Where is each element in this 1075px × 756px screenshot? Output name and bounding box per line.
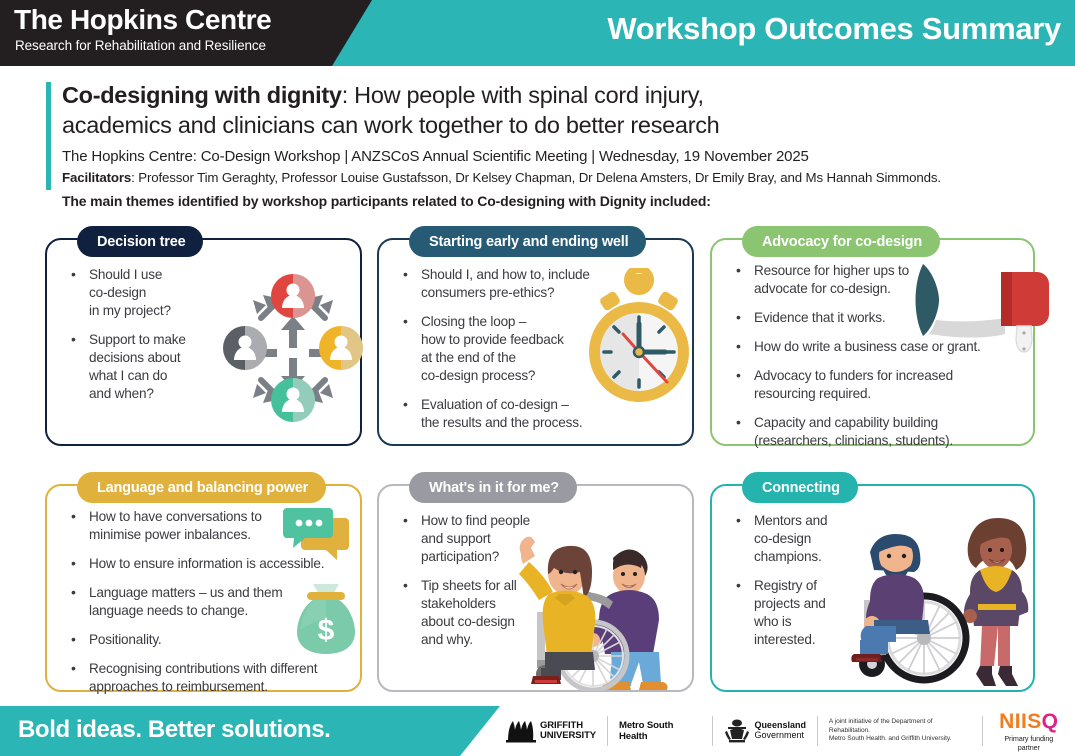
queensland-crest-icon [724, 718, 750, 744]
list-item: Language matters – us and them language … [65, 584, 340, 620]
theme-card-whats-in-it[interactable]: What's in it for me? How to find people … [377, 484, 694, 692]
list-item: Closing the loop – how to provide feedba… [397, 313, 616, 385]
card-bullets-connecting: Mentors and co-design champions. Registr… [730, 512, 858, 649]
title-accent-bar [46, 82, 51, 190]
queensland-government-logo: Queensland Government [713, 714, 817, 748]
niisq-main: NIIS [999, 710, 1041, 733]
card-header-starting-early: Starting early and ending well [409, 226, 646, 257]
joint-line-2: Metro South Health. and Griffith Univers… [829, 735, 971, 744]
page-footer: Bold ideas. Better solutions. GRIFFITH U… [0, 706, 1075, 756]
griffith-crest-icon [506, 719, 536, 743]
list-item: Support to make decisions about what I c… [65, 331, 297, 403]
card-header-language-power: Language and balancing power [77, 472, 326, 503]
wheelchair-man-and-woman-icon [842, 508, 1042, 690]
theme-card-language-power[interactable]: Language and balancing power How to have… [45, 484, 362, 692]
griffith-university-logo: GRIFFITH UNIVERSITY [495, 714, 607, 748]
griffith-line-2: UNIVERSITY [540, 731, 596, 741]
facilitators: Facilitators: Professor Tim Geraghty, Pr… [62, 170, 1052, 185]
card-bullets-decision-tree: Should I use co-design in my project? Su… [65, 266, 297, 403]
joint-initiative-note: A joint initiative of the Department of … [818, 714, 982, 748]
intro-block: Co-designing with dignity: How people wi… [62, 80, 1052, 185]
card-bullets-language-power: How to have conversations to minimise po… [65, 508, 340, 696]
list-item: Capacity and capability building (resear… [730, 414, 1012, 450]
card-bullets-whats-in-it: How to find people and support participa… [397, 512, 547, 649]
list-item: Registry of projects and who is interest… [730, 577, 858, 649]
theme-card-connecting[interactable]: Connecting Mentors and co-design champio… [710, 484, 1035, 692]
theme-card-advocacy[interactable]: Advocacy for co-design Resource for high… [710, 238, 1035, 446]
card-header-decision-tree: Decision tree [77, 226, 203, 257]
list-item: Mentors and co-design champions. [730, 512, 858, 566]
metro-south-health-label: Metro South Health [619, 720, 701, 742]
list-item: Positionality. [65, 631, 340, 649]
workshop-title: Co-designing with dignity: How people wi… [62, 80, 1052, 140]
footer-logos: GRIFFITH UNIVERSITY Metro South Health [495, 706, 1075, 756]
facilitators-label: Facilitators [62, 170, 131, 185]
list-item: Advocacy to funders for increased resour… [730, 367, 1012, 403]
theme-card-starting-early[interactable]: Starting early and ending well Should I,… [377, 238, 694, 446]
niisq-q: Q [1042, 710, 1059, 733]
list-item: Evaluation of co-design – the results an… [397, 396, 616, 432]
niisq-logo: NIISQ Primary funding partner [983, 714, 1075, 748]
metro-south-health-logo: Metro South Health [608, 714, 712, 748]
page-title: Workshop Outcomes Summary [607, 11, 1061, 47]
list-item: How to find people and support participa… [397, 512, 547, 566]
list-item: Tip sheets for all stakeholders about co… [397, 577, 547, 649]
brand-name: The Hopkins Centre [14, 4, 271, 36]
facilitators-value: : Professor Tim Geraghty, Professor Loui… [131, 170, 941, 185]
infographic-page: The Hopkins Centre Research for Rehabili… [0, 0, 1075, 756]
list-item: Resource for higher ups to advocate for … [730, 262, 1012, 298]
list-item: How to ensure information is accessible. [65, 555, 340, 573]
list-item: Should I use co-design in my project? [65, 266, 297, 320]
queensland-line-2: Government [754, 731, 806, 741]
niisq-subtitle: Primary funding partner [994, 734, 1064, 752]
joint-line-1: A joint initiative of the Department of … [829, 718, 971, 736]
workshop-title-line2: academics and clinicians can work togeth… [62, 112, 719, 138]
list-item: Should I, and how to, include consumers … [397, 266, 616, 302]
themes-intro: The main themes identified by workshop p… [62, 193, 711, 209]
list-item: Evidence that it works. [730, 309, 1012, 327]
page-header: The Hopkins Centre Research for Rehabili… [0, 0, 1075, 66]
card-header-whats-in-it: What's in it for me? [409, 472, 577, 503]
card-bullets-starting-early: Should I, and how to, include consumers … [397, 266, 616, 432]
brand-tagline: Research for Rehabilitation and Resilien… [15, 38, 266, 53]
card-header-connecting: Connecting [742, 472, 858, 503]
footer-slogan: Bold ideas. Better solutions. [18, 716, 330, 744]
list-item: Recognising contributions with different… [65, 660, 340, 696]
list-item: How do write a business case or grant. [730, 338, 1012, 356]
list-item: How to have conversations to minimise po… [65, 508, 340, 544]
card-header-advocacy: Advocacy for co-design [742, 226, 940, 257]
theme-card-decision-tree[interactable]: Decision tree Should I use co-design in … [45, 238, 362, 446]
themes-row-2: Language and balancing power How to have… [45, 470, 1035, 692]
workshop-meta: The Hopkins Centre: Co-Design Workshop |… [62, 148, 1052, 165]
card-bullets-advocacy: Resource for higher ups to advocate for … [730, 262, 1012, 450]
workshop-title-rest: : How people with spinal cord injury, [342, 82, 704, 108]
themes-grid: Decision tree Should I use co-design in … [45, 224, 1035, 692]
workshop-title-bold: Co-designing with dignity [62, 82, 342, 108]
themes-row-1: Decision tree Should I use co-design in … [45, 224, 1035, 446]
